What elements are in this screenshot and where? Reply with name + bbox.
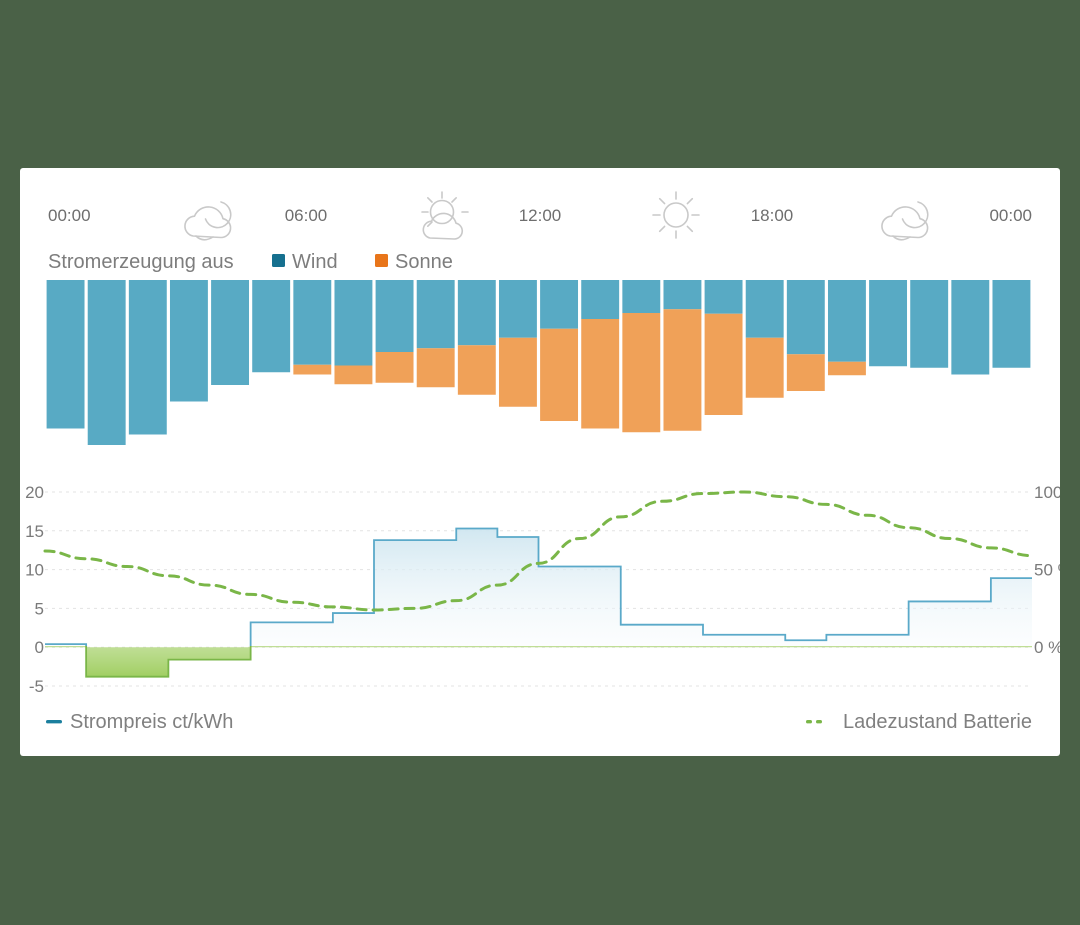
sun-icon <box>653 192 699 238</box>
price-axis-labels: 20151050-5 <box>25 483 44 696</box>
generation-bar[interactable] <box>910 280 948 368</box>
generation-bar[interactable] <box>88 280 126 445</box>
bar-segment-sonne[interactable] <box>293 365 331 375</box>
generation-bar[interactable] <box>622 280 660 432</box>
bar-segment-wind[interactable] <box>499 280 537 338</box>
generation-bar[interactable] <box>499 280 537 407</box>
bar-segment-wind[interactable] <box>705 280 743 314</box>
price-tick-label: -5 <box>29 677 44 696</box>
generation-bar[interactable] <box>663 280 701 431</box>
bar-segment-wind[interactable] <box>129 280 167 435</box>
generation-bar[interactable] <box>252 280 290 372</box>
time-tick-3: 18:00 <box>751 206 794 225</box>
bar-segment-sonne[interactable] <box>540 329 578 421</box>
price-legend-line-icon <box>46 720 62 723</box>
generation-bar[interactable] <box>787 280 825 391</box>
generation-bar[interactable] <box>828 280 866 375</box>
generation-legend: Stromerzeugung aus Wind Sonne <box>48 251 453 273</box>
battery-tick-label: 100 % <box>1034 483 1060 502</box>
battery-axis-labels: 100 %50 %0 % <box>1034 483 1060 657</box>
generation-bar[interactable] <box>581 280 619 429</box>
battery-tick-label: 0 % <box>1034 638 1060 657</box>
generation-bar[interactable] <box>540 280 578 421</box>
price-legend-label: Strompreis ct/kWh <box>70 711 233 733</box>
sun-cloud-icon <box>422 192 468 239</box>
generation-bar[interactable] <box>869 280 907 366</box>
bar-segment-wind[interactable] <box>540 280 578 329</box>
bar-segment-wind[interactable] <box>458 280 496 345</box>
bar-segment-wind[interactable] <box>252 280 290 372</box>
generation-bar[interactable] <box>417 280 455 387</box>
sonne-legend-marker-icon <box>375 254 388 267</box>
generation-bar[interactable] <box>129 280 167 435</box>
price-tick-label: 0 <box>35 638 44 657</box>
bar-segment-wind[interactable] <box>170 280 208 402</box>
generation-legend-title: Stromerzeugung aus <box>48 251 234 273</box>
price-tick-label: 5 <box>35 599 44 618</box>
generation-bars[interactable] <box>47 280 1031 445</box>
bar-segment-wind[interactable] <box>581 280 619 319</box>
wind-legend-label: Wind <box>292 251 338 273</box>
bar-segment-sonne[interactable] <box>828 362 866 376</box>
battery-tick-label: 50 % <box>1034 561 1060 580</box>
bar-segment-wind[interactable] <box>293 280 331 365</box>
wind-legend-marker-icon <box>272 254 285 267</box>
generation-bar[interactable] <box>746 280 784 398</box>
generation-bar[interactable] <box>992 280 1030 368</box>
bar-segment-wind[interactable] <box>417 280 455 348</box>
bar-segment-sonne[interactable] <box>705 314 743 415</box>
energy-forecast-card: 00:00 06:00 12:00 18:00 00:00 <box>20 168 1060 756</box>
generation-bar[interactable] <box>211 280 249 385</box>
bar-segment-wind[interactable] <box>334 280 372 366</box>
price-tick-label: 20 <box>25 483 44 502</box>
bar-segment-sonne[interactable] <box>499 338 537 407</box>
bar-segment-wind[interactable] <box>910 280 948 368</box>
time-tick-2: 12:00 <box>519 206 562 225</box>
bar-segment-sonne[interactable] <box>622 313 660 432</box>
generation-bar[interactable] <box>170 280 208 402</box>
bar-segment-wind[interactable] <box>663 280 701 309</box>
bar-segment-wind[interactable] <box>992 280 1030 368</box>
price-tick-label: 10 <box>25 561 44 580</box>
bar-segment-sonne[interactable] <box>334 366 372 385</box>
battery-legend-line-icon <box>806 720 822 723</box>
bar-segment-sonne[interactable] <box>458 345 496 395</box>
bar-segment-wind[interactable] <box>828 280 866 362</box>
bar-segment-sonne[interactable] <box>746 338 784 398</box>
generation-bar[interactable] <box>293 280 331 375</box>
bar-segment-sonne[interactable] <box>663 309 701 431</box>
generation-bar[interactable] <box>705 280 743 415</box>
energy-chart[interactable]: 00:00 06:00 12:00 18:00 00:00 <box>20 168 1060 756</box>
bar-segment-wind[interactable] <box>211 280 249 385</box>
price-step-series[interactable] <box>45 528 1032 676</box>
cloud-moon-icon <box>185 202 231 240</box>
bar-segment-wind[interactable] <box>622 280 660 313</box>
generation-bar[interactable] <box>334 280 372 384</box>
bar-segment-wind[interactable] <box>88 280 126 445</box>
cloud-moon-icon <box>882 202 928 240</box>
bar-segment-wind[interactable] <box>869 280 907 366</box>
bottom-legend: Strompreis ct/kWh Ladezustand Batterie <box>46 711 1032 733</box>
generation-bar[interactable] <box>951 280 989 375</box>
bar-segment-sonne[interactable] <box>581 319 619 429</box>
bar-segment-wind[interactable] <box>746 280 784 338</box>
bar-segment-sonne[interactable] <box>376 352 414 383</box>
sonne-legend-label: Sonne <box>395 251 453 273</box>
bar-segment-wind[interactable] <box>787 280 825 354</box>
bar-segment-wind[interactable] <box>376 280 414 352</box>
battery-legend-label: Ladezustand Batterie <box>843 711 1032 733</box>
generation-bar[interactable] <box>47 280 85 429</box>
bar-segment-wind[interactable] <box>47 280 85 429</box>
price-tick-label: 15 <box>25 522 44 541</box>
generation-bar[interactable] <box>376 280 414 383</box>
bar-segment-sonne[interactable] <box>417 348 455 387</box>
time-tick-0: 00:00 <box>48 206 91 225</box>
bar-segment-sonne[interactable] <box>787 354 825 391</box>
time-tick-1: 06:00 <box>285 206 328 225</box>
time-tick-4: 00:00 <box>989 206 1032 225</box>
bar-segment-wind[interactable] <box>951 280 989 375</box>
generation-bar[interactable] <box>458 280 496 395</box>
